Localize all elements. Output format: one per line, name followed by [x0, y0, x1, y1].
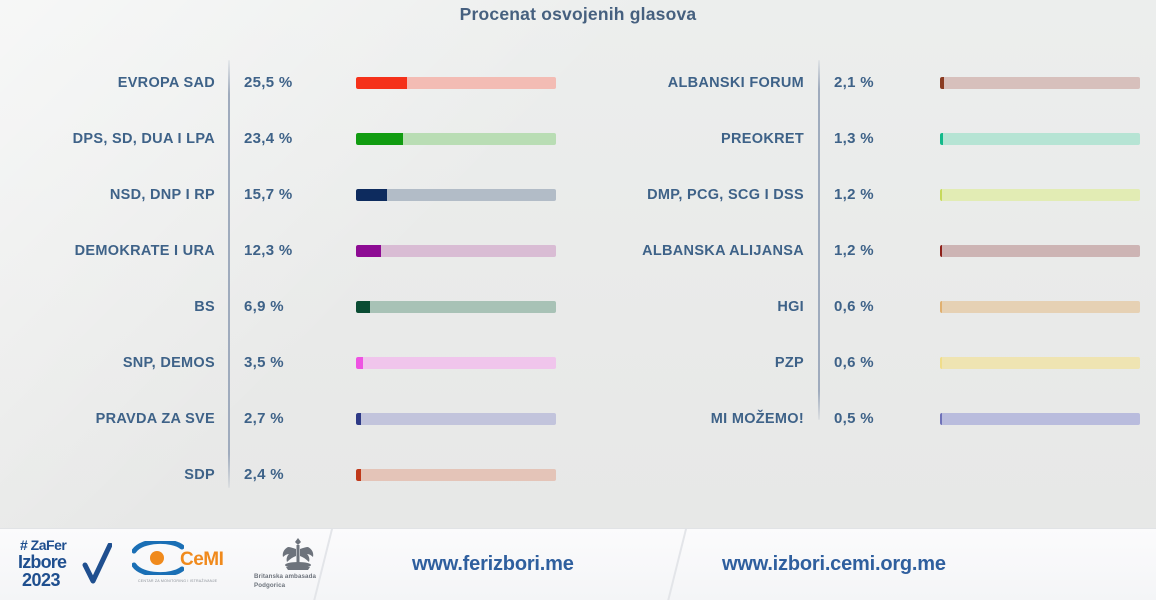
british-embassy-logo: Britanska ambasada Podgorica — [254, 537, 346, 591]
bar-track — [356, 77, 556, 89]
bar-fill — [940, 133, 943, 145]
party-label: SNP, DEMOS — [0, 350, 215, 376]
bar-fill — [940, 77, 944, 89]
chart-column-left: EVROPA SAD25,5 %DPS, SD, DUA I LPA23,4 %… — [0, 58, 578, 498]
chart-column-right: ALBANSKI FORUM2,1 %PREOKRET1,3 %DMP, PCG… — [578, 58, 1156, 498]
bar-track — [356, 469, 556, 481]
party-label: EVROPA SAD — [0, 70, 215, 96]
bar-fill — [356, 133, 403, 145]
party-percentage: 2,4 % — [244, 462, 344, 488]
party-label: ALBANSKA ALIJANSA — [578, 238, 804, 264]
chart-row: MI MOŽEMO!0,5 % — [578, 406, 1156, 432]
chart-row: DPS, SD, DUA I LPA23,4 % — [0, 126, 578, 152]
bar-track — [940, 77, 1140, 89]
party-label: BS — [0, 294, 215, 320]
party-percentage: 2,1 % — [834, 70, 934, 96]
chart-row: SDP2,4 % — [0, 462, 578, 488]
bar-fill — [356, 301, 370, 313]
party-percentage: 1,2 % — [834, 238, 934, 264]
cemi-eye-icon — [132, 541, 184, 575]
party-label: PZP — [578, 350, 804, 376]
cemi-logo: CeMI CENTAR ZA MONITORING I ISTRAŽIVANJE — [132, 537, 236, 591]
embassy-line2: Podgorica — [254, 582, 346, 589]
party-label: DEMOKRATE I URA — [0, 238, 215, 264]
chart-row: DEMOKRATE I URA12,3 % — [0, 238, 578, 264]
link-izbori-cemi[interactable]: www.izbori.cemi.org.me — [722, 553, 946, 576]
party-label: DMP, PCG, SCG I DSS — [578, 182, 804, 208]
chart-row: EVROPA SAD25,5 % — [0, 70, 578, 96]
zafer-logo-line2: Izbore — [18, 553, 66, 571]
party-label: PREOKRET — [578, 126, 804, 152]
bar-fill — [356, 413, 361, 425]
bar-fill — [940, 189, 942, 201]
party-label: SDP — [0, 462, 215, 488]
party-percentage: 2,7 % — [244, 406, 344, 432]
link-ferizbori[interactable]: www.ferizbori.me — [412, 553, 574, 576]
bar-track — [356, 301, 556, 313]
party-percentage: 1,2 % — [834, 182, 934, 208]
bar-chart: EVROPA SAD25,5 %DPS, SD, DUA I LPA23,4 %… — [0, 58, 1156, 498]
party-percentage: 0,6 % — [834, 350, 934, 376]
chart-row: HGI0,6 % — [578, 294, 1156, 320]
chart-row: DMP, PCG, SCG I DSS1,2 % — [578, 182, 1156, 208]
party-label: HGI — [578, 294, 804, 320]
chart-row: NSD, DNP I RP15,7 % — [0, 182, 578, 208]
chart-row: SNP, DEMOS3,5 % — [0, 350, 578, 376]
page-title: Procenat osvojenih glasova — [0, 4, 1156, 25]
bar-track — [356, 357, 556, 369]
bar-track — [356, 245, 556, 257]
embassy-line1: Britanska ambasada — [254, 573, 346, 580]
party-percentage: 0,6 % — [834, 294, 934, 320]
party-percentage: 3,5 % — [244, 350, 344, 376]
bar-fill — [940, 245, 942, 257]
chart-row: PRAVDA ZA SVE2,7 % — [0, 406, 578, 432]
party-percentage: 15,7 % — [244, 182, 344, 208]
party-label: ALBANSKI FORUM — [578, 70, 804, 96]
bar-track — [940, 245, 1140, 257]
bar-track — [940, 413, 1140, 425]
chart-row: BS6,9 % — [0, 294, 578, 320]
chart-row: PZP0,6 % — [578, 350, 1156, 376]
bar-fill — [356, 357, 363, 369]
royal-crest-icon — [274, 537, 322, 571]
bar-track — [940, 301, 1140, 313]
bar-fill — [940, 413, 942, 425]
footer-divider-2 — [661, 528, 692, 600]
party-percentage: 6,9 % — [244, 294, 344, 320]
bar-track — [356, 133, 556, 145]
bar-fill — [940, 301, 942, 313]
footer: # ZaFer Izbore 2023 CeMI CENTAR ZA MONIT… — [0, 528, 1156, 600]
party-label: DPS, SD, DUA I LPA — [0, 126, 215, 152]
party-percentage: 1,3 % — [834, 126, 934, 152]
bar-fill — [356, 77, 407, 89]
party-percentage: 0,5 % — [834, 406, 934, 432]
footer-logos: # ZaFer Izbore 2023 CeMI CENTAR ZA MONIT… — [18, 537, 346, 591]
bar-track — [940, 189, 1140, 201]
infographic-root: Procenat osvojenih glasova EVROPA SAD25,… — [0, 0, 1156, 600]
bar-fill — [940, 357, 942, 369]
cemi-wordmark: CeMI — [180, 549, 223, 571]
chart-row: ALBANSKA ALIJANSA1,2 % — [578, 238, 1156, 264]
bar-track — [940, 357, 1140, 369]
zafer-logo-line3: 2023 — [22, 571, 60, 589]
party-label: NSD, DNP I RP — [0, 182, 215, 208]
chart-row: PREOKRET1,3 % — [578, 126, 1156, 152]
bar-track — [356, 413, 556, 425]
party-percentage: 25,5 % — [244, 70, 344, 96]
bar-fill — [356, 189, 387, 201]
checkmark-icon — [82, 543, 112, 587]
party-label: PRAVDA ZA SVE — [0, 406, 215, 432]
party-percentage: 12,3 % — [244, 238, 344, 264]
zafer-logo-line1: # ZaFer — [20, 538, 66, 552]
cemi-subtitle: CENTAR ZA MONITORING I ISTRAŽIVANJE — [138, 579, 217, 583]
party-label: MI MOŽEMO! — [578, 406, 804, 432]
party-percentage: 23,4 % — [244, 126, 344, 152]
zafer-izbore-logo: # ZaFer Izbore 2023 — [18, 537, 114, 591]
chart-row: ALBANSKI FORUM2,1 % — [578, 70, 1156, 96]
bar-track — [940, 133, 1140, 145]
bar-track — [356, 189, 556, 201]
bar-fill — [356, 245, 381, 257]
bar-fill — [356, 469, 361, 481]
